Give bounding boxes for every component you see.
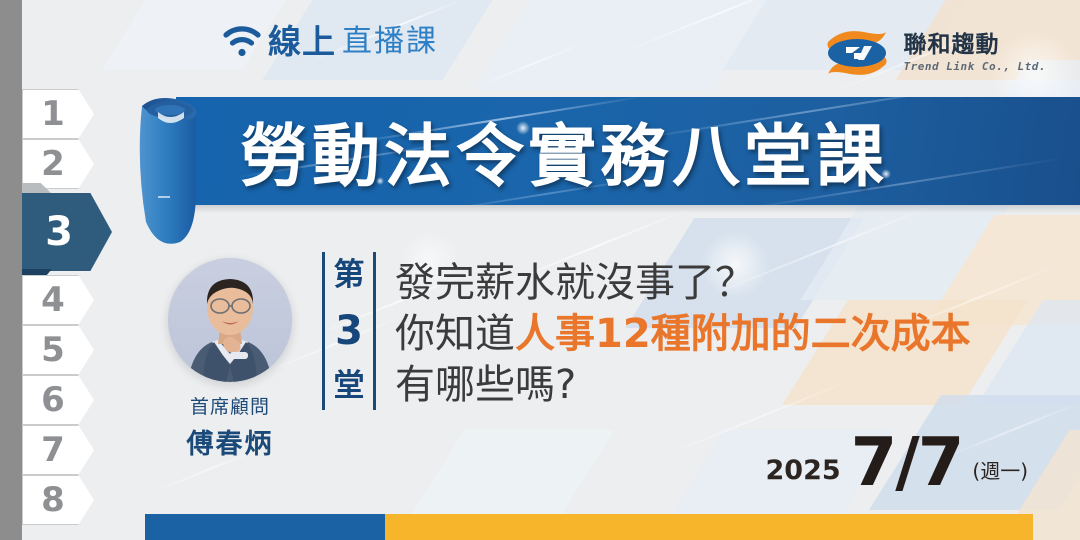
live-light-text: 直播課: [342, 27, 438, 58]
speaker-block: 首席顧問 傅春炳: [160, 258, 300, 461]
page-title: 勞動法令實務八堂課: [240, 100, 1030, 200]
lesson-number-badge: 第 3 堂: [322, 252, 376, 410]
question-line-2: 你知道人事12種附加的二次成本: [395, 309, 1055, 360]
tab-label: 3: [22, 193, 96, 271]
logo-text: 聯和趨動 Trend Link Co., Ltd.: [904, 34, 1046, 72]
date-year: 2025: [766, 455, 841, 492]
sidebar-item-lesson-6[interactable]: 6: [22, 375, 94, 425]
question-line-3: 有哪些嗎?: [395, 360, 1055, 411]
live-stream-badge: 線上 直播課: [222, 24, 438, 58]
lesson-tabs: 1 2 3 4 5 6 7 8: [22, 89, 117, 525]
company-logo: 聯和趨動 Trend Link Co., Ltd.: [820, 28, 1046, 78]
sidebar-item-lesson-2[interactable]: 2: [22, 139, 94, 189]
sidebar-item-lesson-4[interactable]: 4: [22, 275, 94, 325]
ribbon-curl: [136, 92, 210, 252]
tab-label: 1: [22, 89, 84, 139]
question-line-2-prefix: 你知道: [395, 311, 515, 357]
course-question: 發完薪水就沒事了？ 你知道人事12種附加的二次成本 有哪些嗎?: [395, 258, 1055, 412]
tab-label: 2: [22, 139, 84, 189]
tab-label: 8: [22, 475, 84, 525]
date-weekday: (週一): [972, 455, 1028, 492]
lesson-badge-number: 3: [335, 311, 363, 351]
lesson-badge-prefix: 第: [334, 260, 365, 291]
ribbon-shadow: [176, 205, 1080, 213]
course-poster: 1 2 3 4 5 6 7 8: [0, 0, 1080, 540]
left-rail: [0, 0, 22, 540]
logo-chinese-name: 聯和趨動: [904, 34, 1046, 57]
live-strong-text: 線上: [268, 25, 336, 58]
sidebar-item-lesson-5[interactable]: 5: [22, 325, 94, 375]
course-date: 2025 7/7 (週一): [766, 434, 1028, 492]
tab-label: 7: [22, 425, 84, 475]
avatar: [168, 258, 292, 382]
speaker-name: 傅春炳: [160, 422, 300, 461]
question-line-1: 發完薪水就沒事了？: [395, 258, 1055, 309]
footer-bar-yellow: [385, 514, 1033, 540]
sidebar-item-lesson-1[interactable]: 1: [22, 89, 94, 139]
tab-label: 6: [22, 375, 84, 425]
trend-link-logo-icon: [820, 28, 894, 78]
logo-english-name: Trend Link Co., Ltd.: [904, 61, 1046, 72]
tab-label: 5: [22, 325, 84, 375]
sidebar-item-lesson-8[interactable]: 8: [22, 475, 94, 525]
date-month-day: 7/7: [851, 434, 963, 492]
question-highlight: 人事12種附加的二次成本: [515, 311, 971, 357]
lesson-badge-suffix: 堂: [334, 371, 365, 402]
sidebar-item-lesson-3[interactable]: 3: [22, 193, 112, 271]
footer-bar-blue: [145, 514, 385, 540]
tab-label: 4: [22, 275, 84, 325]
wifi-icon: [222, 24, 262, 58]
speaker-role: 首席顧問: [160, 392, 300, 419]
sidebar-item-lesson-7[interactable]: 7: [22, 425, 94, 475]
